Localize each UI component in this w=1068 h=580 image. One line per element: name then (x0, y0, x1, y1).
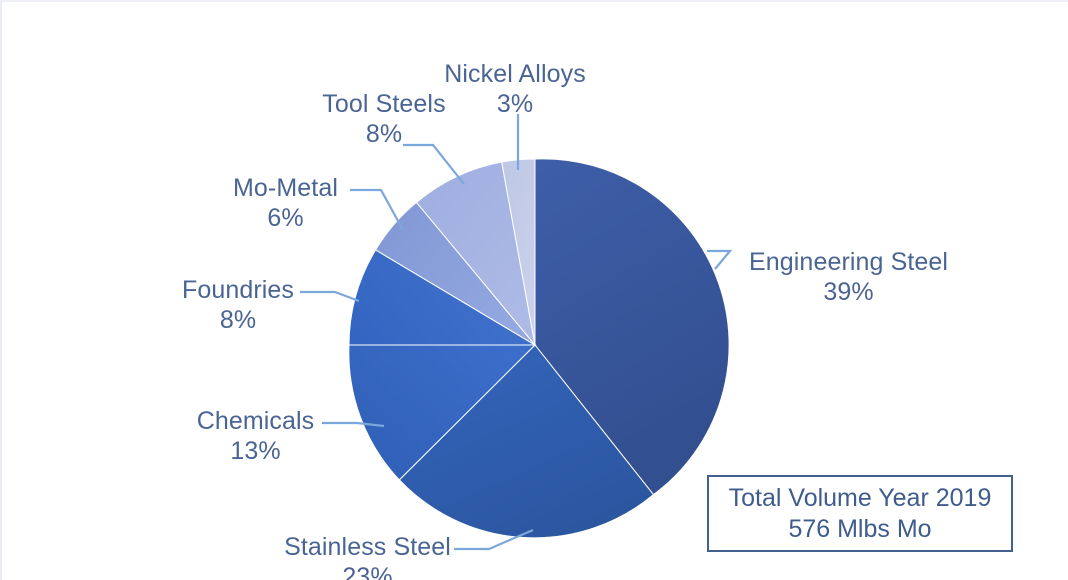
pie-label-foundries-value: 8% (178, 306, 298, 336)
pie-label-chemicals-value: 13% (192, 437, 319, 467)
pie-label-nickel-alloys: Nickel Alloys 3% (439, 60, 591, 119)
pie-label-mo-metal-name: Mo-Metal (224, 174, 347, 204)
pie-label-chemicals-name: Chemicals (192, 407, 319, 437)
pie-label-stainless-steel-value: 23% (280, 563, 455, 580)
pie-label-nickel-alloys-name: Nickel Alloys (439, 60, 591, 90)
pie-label-foundries: Foundries 8% (178, 276, 298, 335)
pie-label-tool-steels-value: 8% (320, 120, 448, 150)
leader-line-foundries (300, 292, 359, 301)
total-volume-line-2: 576 Mlbs Mo (788, 514, 931, 545)
total-volume-line-1: Total Volume Year 2019 (729, 483, 992, 514)
pie-label-engineering-steel-value: 39% (749, 278, 948, 308)
pie-label-tool-steels: Tool Steels 8% (320, 90, 448, 149)
pie-chart-canvas: Engineering Steel 39% Stainless Steel 23… (0, 0, 1068, 580)
pie-label-chemicals: Chemicals 13% (192, 407, 319, 466)
pie-label-stainless-steel-name: Stainless Steel (280, 533, 455, 563)
pie-label-stainless-steel: Stainless Steel 23% (280, 533, 455, 580)
pie-label-nickel-alloys-value: 3% (439, 90, 591, 120)
pie-label-foundries-name: Foundries (178, 276, 298, 306)
pie-label-mo-metal-value: 6% (224, 204, 347, 234)
pie-label-tool-steels-name: Tool Steels (320, 90, 448, 120)
pie-label-engineering-steel-name: Engineering Steel (749, 248, 948, 278)
total-volume-legend-box: Total Volume Year 2019 576 Mlbs Mo (707, 475, 1013, 552)
pie-label-mo-metal: Mo-Metal 6% (224, 174, 347, 233)
pie-label-engineering-steel: Engineering Steel 39% (749, 248, 948, 307)
